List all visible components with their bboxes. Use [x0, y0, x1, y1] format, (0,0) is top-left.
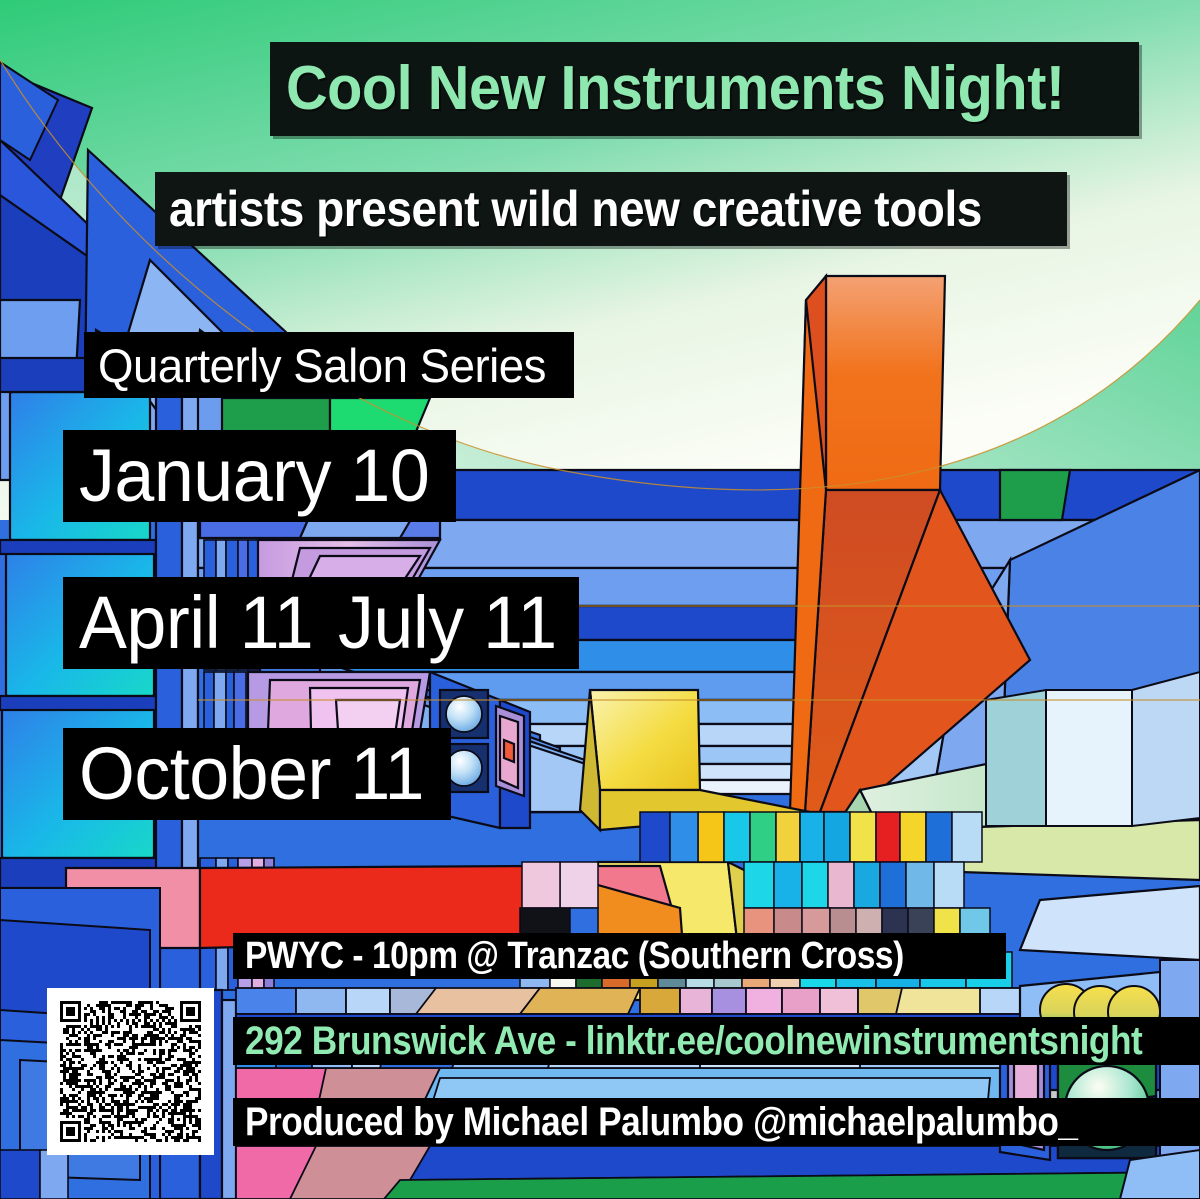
date-april: April 11: [63, 577, 336, 669]
credit-line-text: Produced by Michael Palumbo @michaelpalu…: [245, 1102, 1078, 1142]
series-label-text: Quarterly Salon Series: [98, 342, 546, 389]
poster-title-text: Cool New Instruments Night!: [286, 58, 1065, 120]
address-link-line[interactable]: 292 Brunswick Ave - linktr.ee/coolnewins…: [233, 1017, 1200, 1065]
date-january-text: January 10: [79, 439, 429, 513]
date-july: July 11: [322, 577, 579, 669]
venue-line: PWYC - 10pm @ Tranzac (Southern Cross): [233, 933, 1006, 979]
credit-line: Produced by Michael Palumbo @michaelpalu…: [233, 1098, 1200, 1146]
poster-title: Cool New Instruments Night!: [270, 42, 1139, 136]
series-label: Quarterly Salon Series: [84, 332, 574, 398]
date-april-text: April 11: [79, 586, 313, 660]
qr-code-image: [60, 1001, 201, 1142]
poster-canvas: Cool New Instruments Night! artists pres…: [0, 0, 1200, 1199]
date-october-text: October 11: [79, 737, 424, 811]
date-july-text: July 11: [338, 586, 557, 660]
poster-subtitle: artists present wild new creative tools: [155, 172, 1067, 246]
poster-subtitle-text: artists present wild new creative tools: [169, 184, 982, 234]
qr-code[interactable]: [47, 988, 214, 1155]
date-january: January 10: [63, 430, 456, 522]
venue-line-text: PWYC - 10pm @ Tranzac (Southern Cross): [245, 937, 904, 975]
address-link-text: 292 Brunswick Ave - linktr.ee/coolnewins…: [245, 1021, 1142, 1061]
date-october: October 11: [63, 728, 451, 820]
